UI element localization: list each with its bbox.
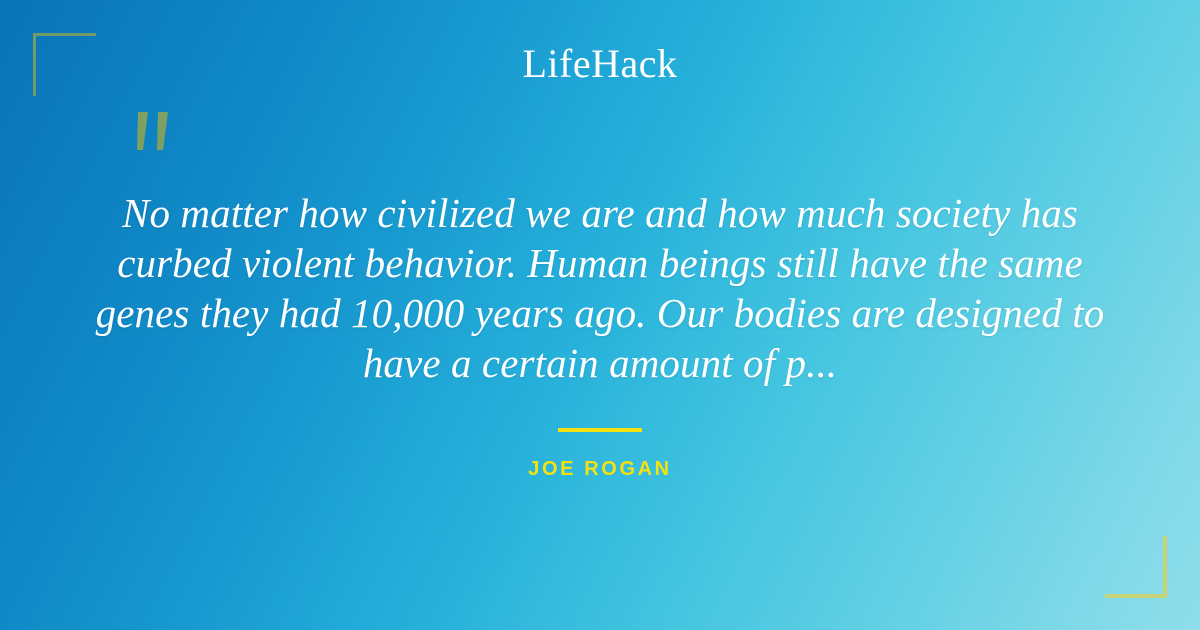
attribution-divider [558,428,642,432]
quote-text: No matter how civilized we are and how m… [78,188,1122,388]
quote-block: No matter how civilized we are and how m… [0,188,1200,388]
author-name: JOE ROGAN [0,458,1200,481]
attribution-block: JOE ROGAN [0,428,1200,481]
quotation-mark-icon [128,104,188,168]
corner-bracket-bottom-right [1105,536,1167,598]
quote-card: LifeHack No matter how civilized we are … [0,0,1200,630]
brand-logo: LifeHack [0,40,1200,88]
